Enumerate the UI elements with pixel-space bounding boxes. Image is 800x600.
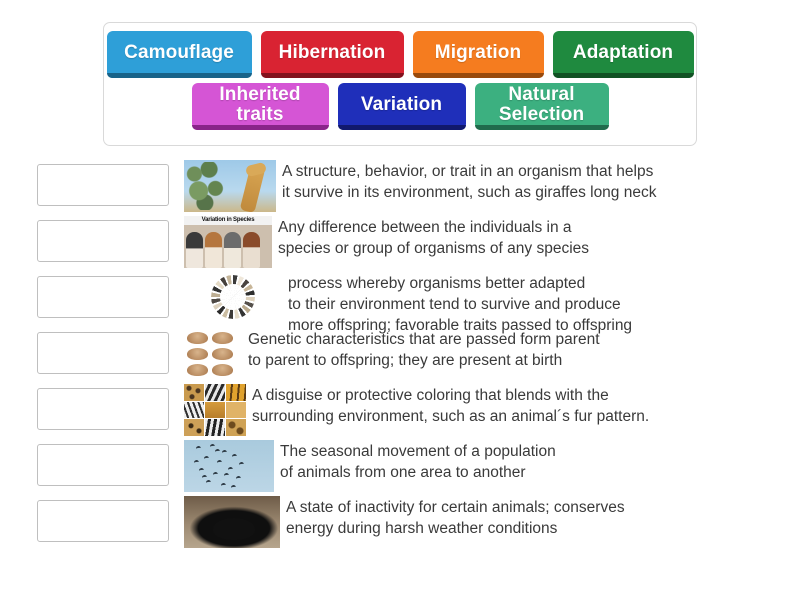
word-tile-bevel [261, 73, 404, 78]
word-tile-label: Camouflage [124, 43, 234, 63]
answer-dropzone[interactable] [37, 276, 169, 318]
word-bank-row-1: CamouflageHibernationMigrationAdaptation [104, 31, 696, 78]
definition-text: The seasonal movement of a population of… [280, 440, 556, 483]
answer-row: Genetic characteristics that are passed … [0, 328, 800, 384]
word-tile-label: Adaptation [573, 43, 673, 63]
giraffe-eating-tree-photo [184, 160, 276, 212]
word-bank-panel: CamouflageHibernationMigrationAdaptation… [103, 22, 697, 146]
word-tile-label: Natural Selection [499, 85, 584, 125]
answer-row: A structure, behavior, or trait in an or… [0, 160, 800, 216]
word-tile-label: Hibernation [279, 43, 386, 63]
answer-row: The seasonal movement of a population of… [0, 440, 800, 496]
answer-dropzone[interactable] [37, 332, 169, 374]
word-tile-label: Migration [435, 43, 521, 63]
word-tile-bevel [192, 125, 329, 130]
word-tile-adaptation[interactable]: Adaptation [553, 31, 694, 78]
word-tile-bevel [107, 73, 252, 78]
word-tile-label: Inherited traits [219, 85, 300, 125]
answer-row: Variation in SpeciesAny difference betwe… [0, 216, 800, 272]
word-tile-variation[interactable]: Variation [338, 83, 466, 130]
word-tile-inherited-traits[interactable]: Inherited traits [192, 83, 329, 130]
word-tile-bevel [338, 125, 466, 130]
variation-in-species-dogs-photo: Variation in Species [184, 216, 272, 268]
answer-row: A state of inactivity for certain animal… [0, 496, 800, 552]
hibernation-bear-in-den-photo [184, 496, 280, 548]
word-tile-bevel [475, 125, 609, 130]
word-bank-row-2: Inherited traitsVariationNatural Selecti… [104, 83, 696, 130]
word-tile-migration[interactable]: Migration [413, 31, 544, 78]
inherited-traits-faces-grid [184, 328, 242, 380]
word-tile-bevel [413, 73, 544, 78]
answer-rows: A structure, behavior, or trait in an or… [0, 160, 800, 552]
definition-text: A state of inactivity for certain animal… [286, 496, 625, 539]
definition-text: Genetic characteristics that are passed … [248, 328, 600, 371]
thumbnail-caption: Variation in Species [184, 216, 272, 225]
answer-dropzone[interactable] [37, 444, 169, 486]
migration-birds-flying-photo [184, 440, 274, 492]
word-tile-natural-selection[interactable]: Natural Selection [475, 83, 609, 130]
camouflage-animal-fur-patterns-grid [184, 384, 246, 436]
definition-text: process whereby organisms better adapted… [288, 272, 632, 336]
definition-text: Any difference between the individuals i… [278, 216, 589, 259]
natural-selection-moth-circle-diagram [184, 272, 282, 324]
definition-text: A structure, behavior, or trait in an or… [282, 160, 656, 203]
answer-dropzone[interactable] [37, 388, 169, 430]
answer-row: A disguise or protective coloring that b… [0, 384, 800, 440]
answer-dropzone[interactable] [37, 220, 169, 262]
answer-dropzone[interactable] [37, 164, 169, 206]
answer-row: process whereby organisms better adapted… [0, 272, 800, 328]
definition-text: A disguise or protective coloring that b… [252, 384, 649, 427]
word-tile-label: Variation [361, 95, 442, 115]
word-tile-hibernation[interactable]: Hibernation [261, 31, 404, 78]
answer-dropzone[interactable] [37, 500, 169, 542]
word-tile-camouflage[interactable]: Camouflage [107, 31, 252, 78]
word-tile-bevel [553, 73, 694, 78]
